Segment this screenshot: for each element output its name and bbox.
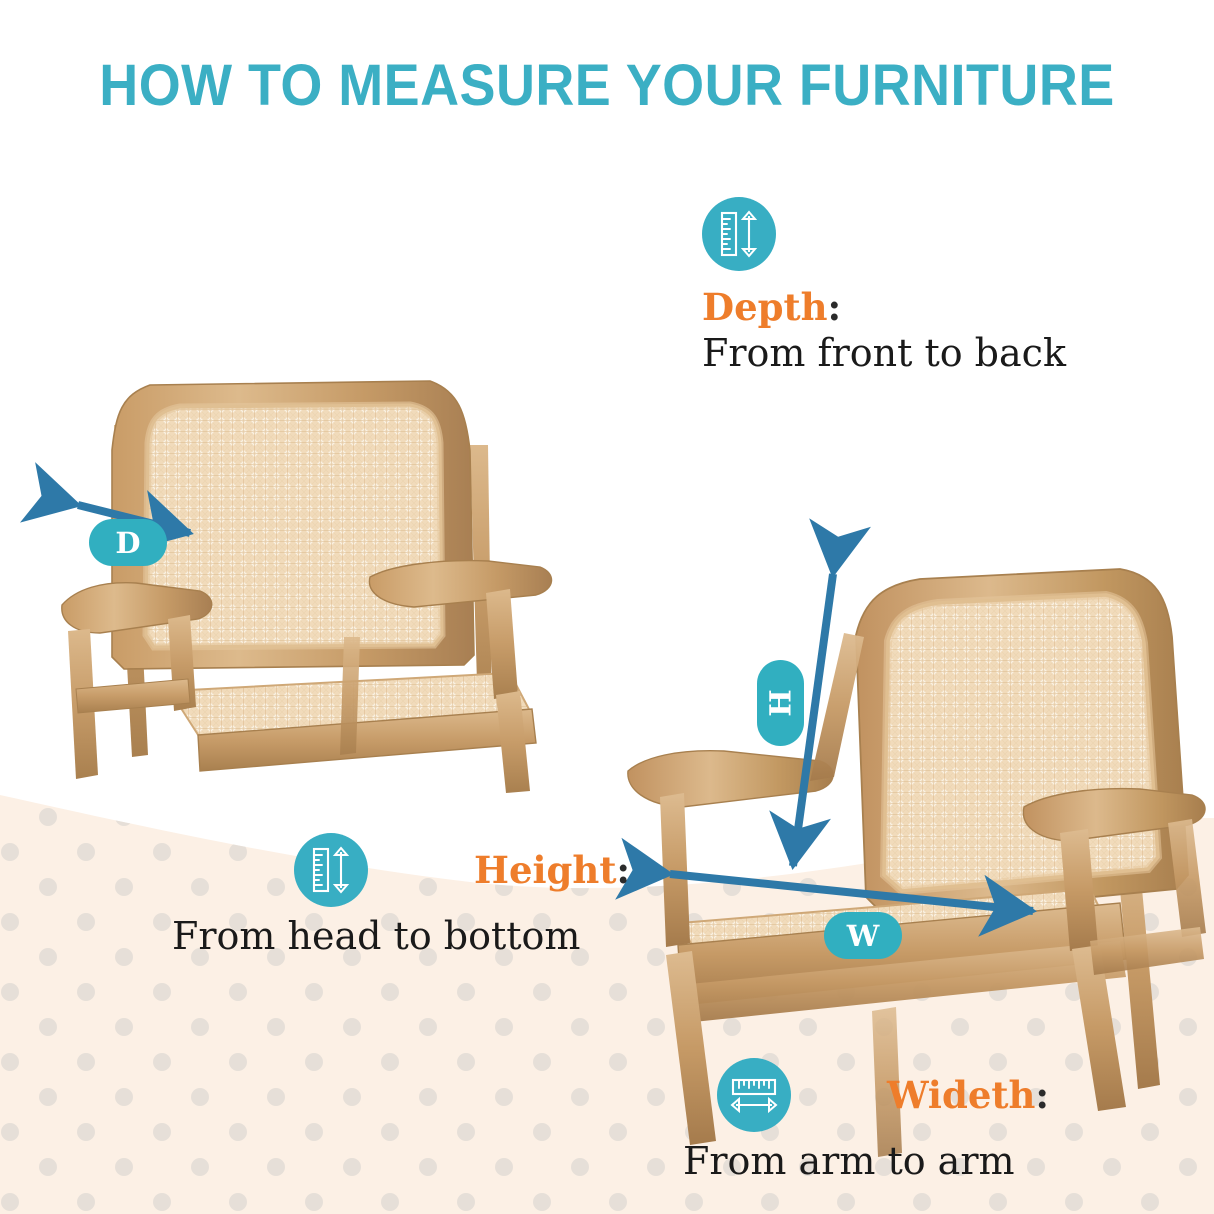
legend-depth: Depth: From front to back xyxy=(702,197,1066,374)
dimension-badge-width: W xyxy=(824,912,902,959)
legend-depth-label: Depth: xyxy=(702,289,1066,326)
horizontal-ruler-width-icon xyxy=(717,1058,791,1132)
page-title: HOW TO MEASURE YOUR FURNITURE xyxy=(42,52,1171,119)
legend-height-label: Height: xyxy=(474,852,630,889)
legend-depth-description: From front to back xyxy=(702,334,1066,374)
vertical-ruler-height-icon xyxy=(294,833,368,907)
legend-wideth-description: From arm to arm xyxy=(683,1142,1049,1182)
dimension-badge-height-letter: H xyxy=(764,689,798,716)
legend-height: Height: From head to bottom xyxy=(294,833,630,957)
dimension-badge-width-letter: W xyxy=(847,919,880,953)
legend-height-description: From head to bottom xyxy=(172,917,630,957)
vertical-ruler-depth-icon xyxy=(702,197,776,271)
dimension-badge-height: H xyxy=(757,660,804,746)
dimension-badge-depth: D xyxy=(89,519,167,566)
infographic-page: HOW TO MEASURE YOUR FURNITURE xyxy=(0,0,1214,1214)
legend-wideth-label: Wideth: xyxy=(887,1077,1049,1114)
dimension-badge-depth-letter: D xyxy=(115,526,140,560)
chair-front-view-image xyxy=(40,195,560,795)
legend-wideth: Wideth: From arm to arm xyxy=(717,1058,1049,1182)
